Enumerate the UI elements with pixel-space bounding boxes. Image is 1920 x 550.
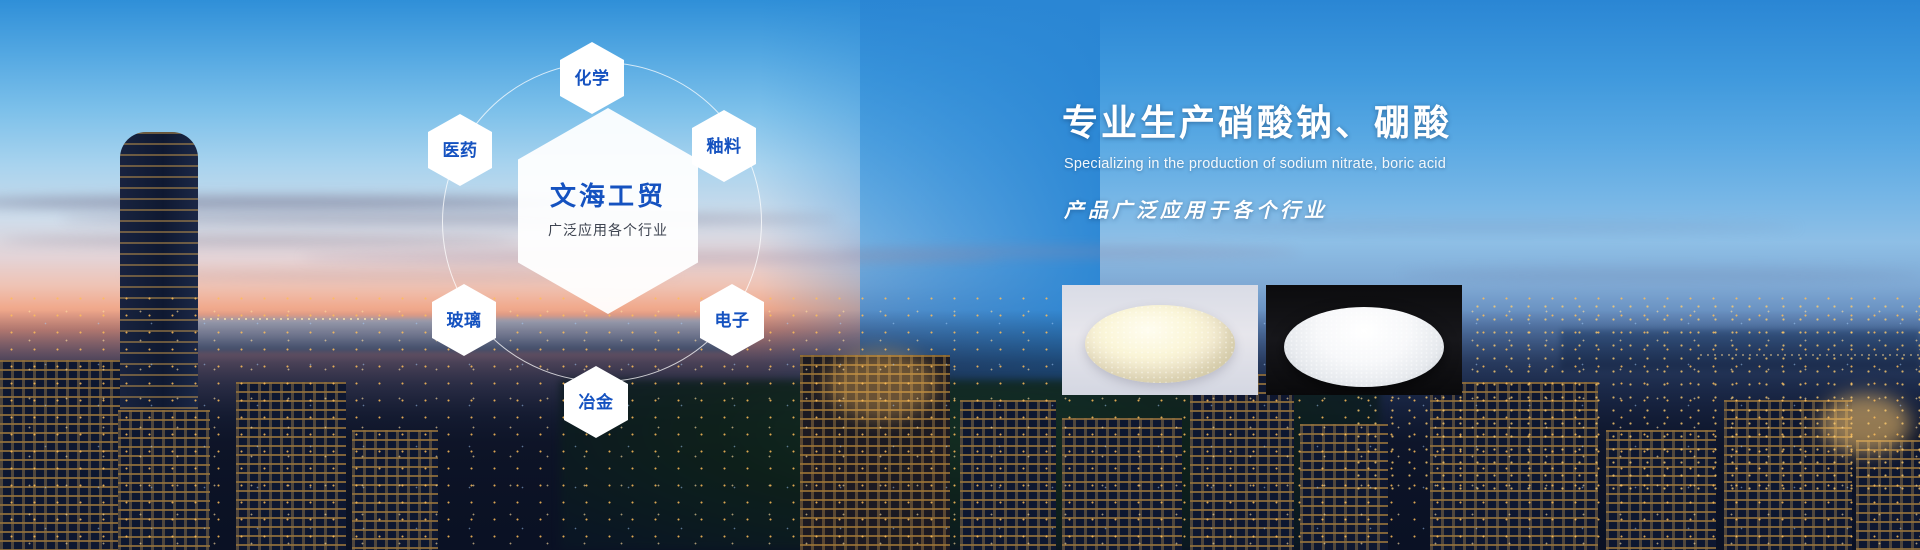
headline-subtitle-english: Specializing in the production of sodium… [1064,156,1842,172]
powder-heap [1085,305,1235,383]
headline-tagline: 产品广泛应用于各个行业 [1064,194,1842,223]
hex-label-glass: 玻璃 [447,312,482,329]
industry-hex-diagram: 化学 釉料 电子 冶金 玻璃 医药 文海工贸 广泛应用各个行业 [428,36,788,436]
banner-copy: 专业生产硝酸钠、硼酸 Specializing in the productio… [1062,100,1842,223]
promo-banner: 化学 釉料 电子 冶金 玻璃 医药 文海工贸 广泛应用各个行业 专业生产硝酸钠、… [0,0,1920,550]
hex-label-electronics: 电子 [715,312,750,329]
cloud-streak [1180,222,1800,232]
cloud-streak [840,246,1300,258]
hex-label-metallurgy: 冶金 [579,394,614,411]
hex-label-glaze: 釉料 [707,138,742,155]
company-name: 文海工贸 [550,182,666,211]
product-photo-gallery [1062,285,1462,395]
product-photo-boric-acid[interactable] [1266,285,1462,395]
hex-label-pharmacy: 医药 [443,142,478,159]
background-cityscape [0,0,1920,550]
hex-label-chemistry: 化学 [575,70,610,87]
powder-heap [1284,307,1444,387]
company-tagline: 广泛应用各个行业 [548,220,668,240]
cloud-streak [1400,268,1920,282]
page-title: 专业生产硝酸钠、硼酸 [1062,100,1842,145]
product-photo-sodium-nitrate[interactable] [1062,285,1258,395]
